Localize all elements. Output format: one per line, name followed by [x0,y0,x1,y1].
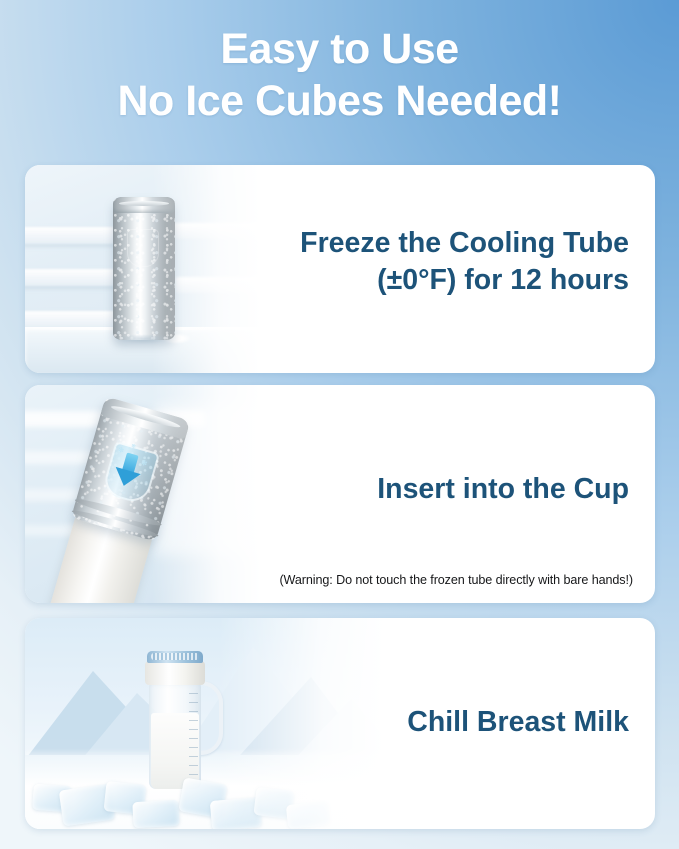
step-freeze-heading: Freeze the Cooling Tube (±0°F) for 12 ho… [229,225,629,299]
tube-shadow [115,334,173,344]
headline-line-2: No Ice Cubes Needed! [0,78,679,124]
insert-tube-photo: ❄ ❄ ❄ [25,385,261,603]
step-chill-heading-line-1: Chill Breast Milk [329,706,629,739]
measurement-ticks [189,693,198,779]
ice-cube [210,797,262,829]
tube-emblem [127,229,159,267]
ice-cube [178,777,227,818]
step-card-freeze: Freeze the Cooling Tube (±0°F) for 12 ho… [25,165,655,373]
step-insert-heading: Insert into the Cup [299,473,629,506]
milk-bottle [143,651,207,791]
ice-cube [132,800,179,828]
product-infographic: Easy to Use No Ice Cubes Needed! [0,0,679,849]
step-freeze-heading-line-1: Freeze the Cooling Tube [229,225,629,262]
step-chill-heading: Chill Breast Milk [329,706,629,739]
headline-line-1: Easy to Use [0,26,679,72]
ice-cube [286,801,330,829]
bottle-collar [145,661,205,685]
step-freeze-heading-line-2: (±0°F) for 12 hours [229,262,629,299]
step-insert-heading-line-1: Insert into the Cup [299,473,629,506]
blurred-fridge-backdrop: ❄ ❄ ❄ [25,385,261,603]
ice-cube [253,787,294,819]
warning-note: (Warning: Do not touch the frozen tube d… [279,573,633,587]
freezer-interior-backdrop [25,165,261,373]
frost-patch [161,333,191,344]
page-title: Easy to Use No Ice Cubes Needed! [0,26,679,125]
blur-highlight [155,405,261,555]
cooling-tube [113,197,175,340]
step-card-insert: ❄ ❄ ❄ In [25,385,655,603]
bottle-lid [147,651,203,663]
tube-cap [113,197,175,213]
frost-texture [113,197,175,340]
step-card-chill: Chill Breast Milk [25,618,655,829]
freezer-tube-photo [25,165,261,373]
